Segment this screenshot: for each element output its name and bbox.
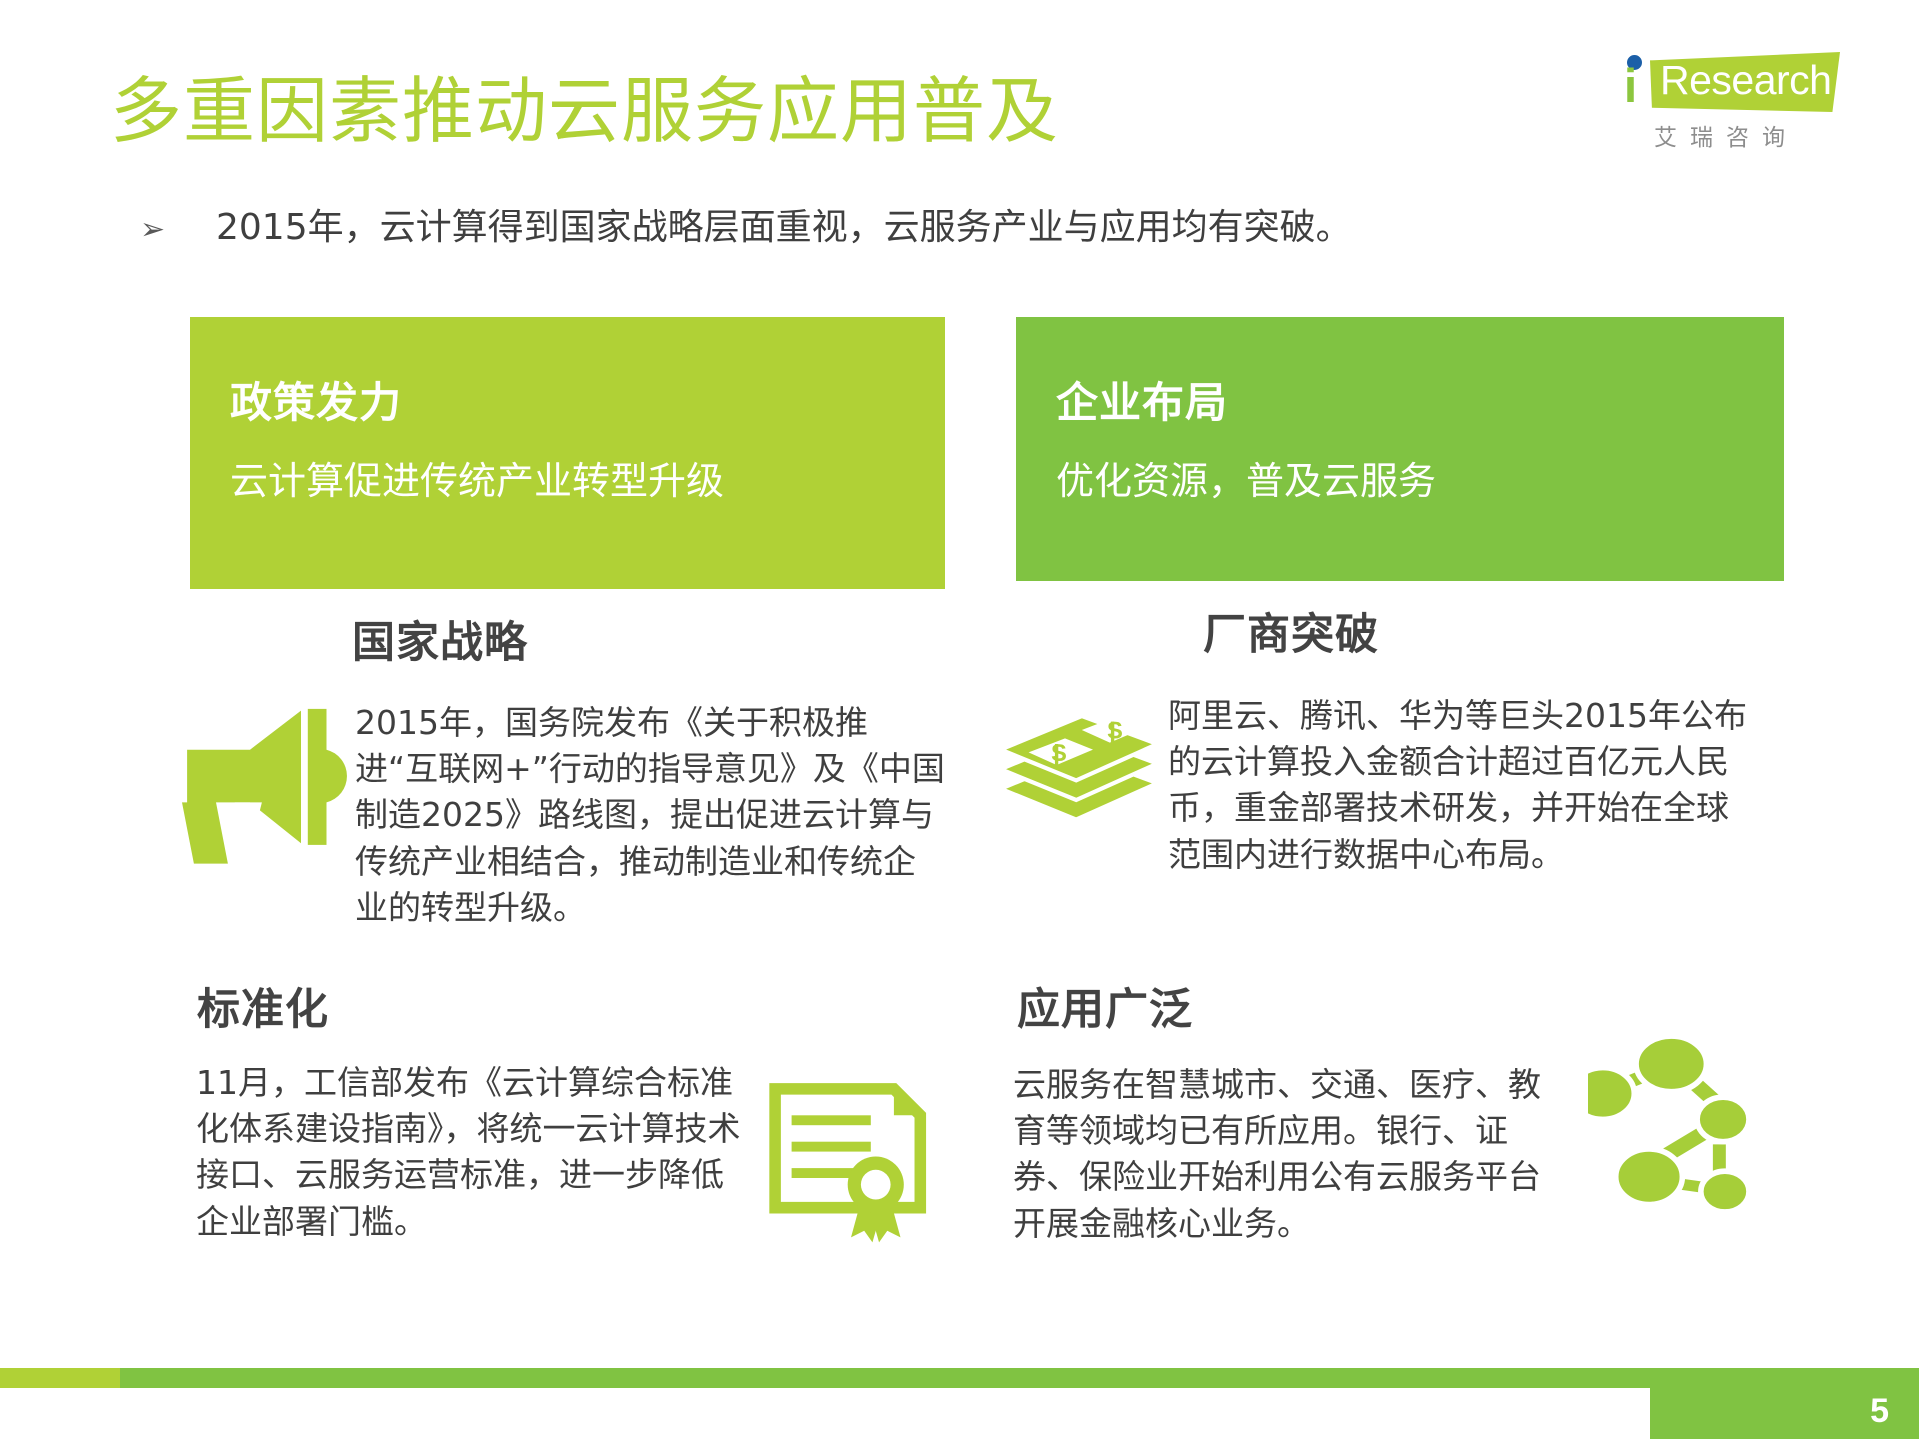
subtitle-text: 2015年，云计算得到国家战略层面重视，云服务产业与应用均有突破。 [216, 198, 1352, 250]
section-heading-vendor-breakthrough: 厂商突破 [1203, 600, 1379, 662]
subtitle-bullet-row: ➢ 2015年，云计算得到国家战略层面重视，云服务产业与应用均有突破。 [140, 198, 1352, 250]
banner-policy-subtitle: 云计算促进传统产业转型升级 [230, 450, 945, 505]
logo-wordmark: Research [1660, 58, 1831, 103]
money-stack-icon: S S [995, 688, 1163, 828]
logo-chinese-name: 艾瑞咨询 [1654, 118, 1798, 152]
page-number: 5 [1870, 1392, 1889, 1431]
page-title: 多重因素推动云服务应用普及 [110, 52, 1059, 157]
slide: i Research 艾瑞咨询 多重因素推动云服务应用普及 ➢ 2015年，云计… [0, 0, 1919, 1439]
section-heading-wide-application: 应用广泛 [1017, 975, 1193, 1037]
bullet-arrow-icon: ➢ [140, 215, 166, 245]
megaphone-icon [182, 697, 352, 867]
section-heading-standardization: 标准化 [197, 975, 329, 1037]
svg-text:S: S [1051, 740, 1067, 767]
section-body-standardization: 11月，工信部发布《云计算综合标准化体系建设指南》，将统一云计算技术接口、云服务… [196, 1060, 741, 1245]
section-body-wide-application: 云服务在智慧城市、交通、医疗、教育等领域均已有所应用。银行、证券、保险业开始利用… [1013, 1062, 1573, 1247]
logo-mark: i Research [1618, 50, 1840, 114]
section-body-vendor-breakthrough: 阿里云、腾讯、华为等巨头2015年公布的云计算投入金额合计超过百亿元人民币，重金… [1168, 693, 1760, 878]
footer-accent-left [0, 1368, 120, 1388]
logo-i-letter: i [1624, 62, 1637, 109]
footer-accent-mid [120, 1368, 1650, 1388]
banner-enterprise: 企业布局 优化资源，普及云服务 [1016, 317, 1784, 581]
certificate-icon [766, 1079, 936, 1244]
banner-policy: 政策发力 云计算促进传统产业转型升级 [190, 317, 945, 589]
section-heading-national-strategy: 国家战略 [352, 608, 528, 670]
iresearch-logo: i Research 艾瑞咨询 [1618, 50, 1848, 160]
banner-enterprise-subtitle: 优化资源，普及云服务 [1056, 450, 1784, 505]
footer-white-area [0, 1388, 1650, 1439]
network-nodes-icon [1588, 1038, 1773, 1223]
svg-text:S: S [1107, 717, 1123, 744]
banner-policy-title: 政策发力 [230, 369, 945, 430]
section-body-national-strategy: 2015年，国务院发布《关于积极推进“互联网+”行动的指导意见》及《中国制造20… [355, 700, 945, 931]
banner-enterprise-title: 企业布局 [1056, 369, 1784, 430]
